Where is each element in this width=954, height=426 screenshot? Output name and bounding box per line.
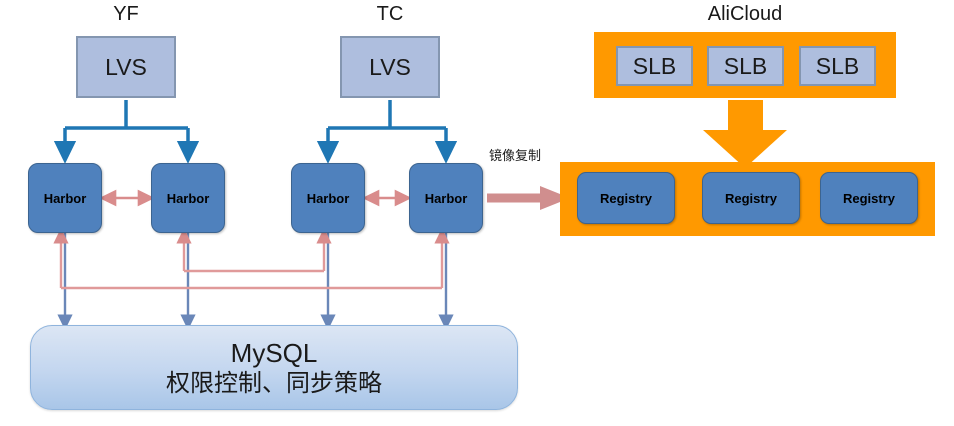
mysql-box[interactable]: MySQL 权限控制、同步策略 <box>30 325 518 410</box>
harbor-to-mysql-arrows <box>65 232 446 322</box>
alicloud-slb-1[interactable]: SLB <box>616 46 693 86</box>
tc-lvs-box[interactable]: LVS <box>340 36 440 98</box>
yf-harbor-1[interactable]: Harbor <box>28 163 102 233</box>
section-title-tc: TC <box>350 2 430 26</box>
alicloud-slb-2[interactable]: SLB <box>707 46 784 86</box>
alicloud-registry-band: Registry Registry Registry <box>560 162 935 236</box>
mirror-replication-label: 镜像复制 <box>489 145 541 164</box>
section-title-alicloud: AliCloud <box>665 2 825 26</box>
yf-harbor-2[interactable]: Harbor <box>151 163 225 233</box>
architecture-diagram: YF LVS Harbor Harbor TC LVS Harbor Harbo… <box>0 0 954 426</box>
section-title-yf: YF <box>86 2 166 26</box>
alicloud-slb-3[interactable]: SLB <box>799 46 876 86</box>
yf-lvs-box[interactable]: LVS <box>76 36 176 98</box>
tc-harbor-2[interactable]: Harbor <box>409 163 483 233</box>
tc-lvs-to-harbor-connector <box>328 100 446 152</box>
alicloud-slb-band: SLB SLB SLB <box>594 32 896 98</box>
mirror-replication-arrow <box>487 186 570 210</box>
tc-harbor-1[interactable]: Harbor <box>291 163 365 233</box>
slb-to-registry-arrow <box>703 100 787 168</box>
mysql-title: MySQL <box>231 337 318 369</box>
alicloud-registry-3[interactable]: Registry <box>820 172 918 224</box>
alicloud-registry-1[interactable]: Registry <box>577 172 675 224</box>
alicloud-registry-2[interactable]: Registry <box>702 172 800 224</box>
cross-site-sync-lines <box>61 236 442 288</box>
mysql-description: 权限控制、同步策略 <box>166 369 382 399</box>
yf-lvs-to-harbor-connector <box>65 100 188 152</box>
